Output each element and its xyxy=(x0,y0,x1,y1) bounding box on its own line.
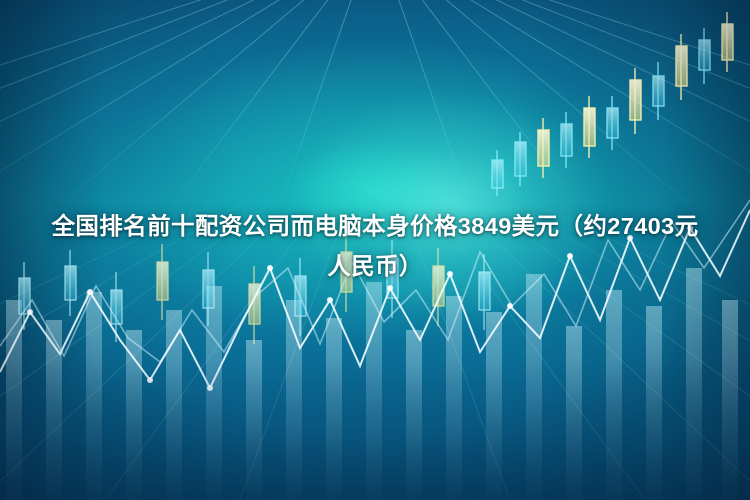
bottom-haze xyxy=(0,360,750,500)
candlesticks-upper xyxy=(492,12,733,196)
stock-chart-banner-image: 全国排名前十配资公司而电脑本身价格3849美元（约27403元 人民币） xyxy=(0,0,750,500)
headline-line-1: 全国排名前十配资公司而电脑本身价格3849美元（约27403元 xyxy=(51,213,698,239)
headline-overlay: 全国排名前十配资公司而电脑本身价格3849美元（约27403元 人民币） xyxy=(0,206,750,286)
headline-line-2: 人民币） xyxy=(8,246,742,286)
